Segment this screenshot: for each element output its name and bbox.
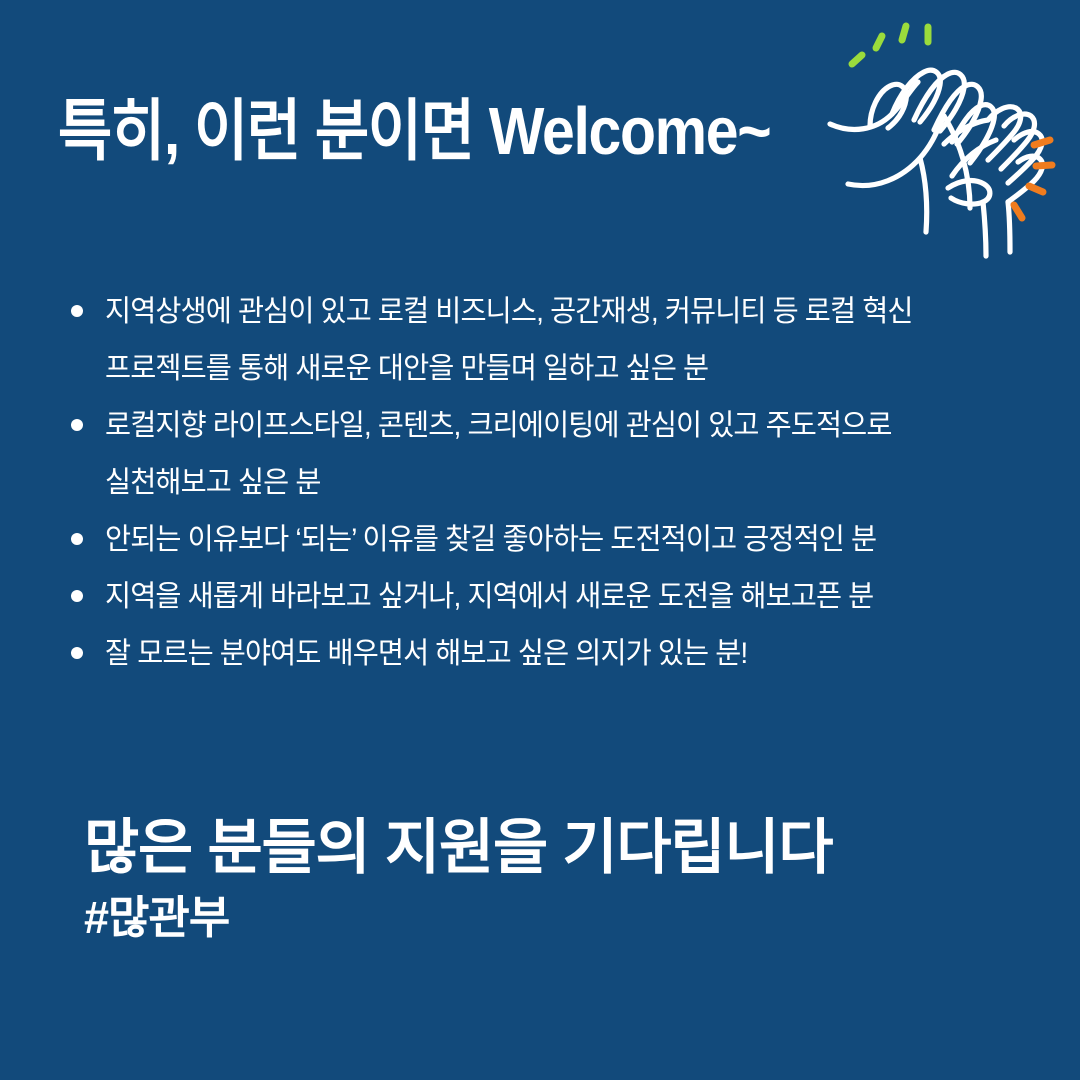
clapping-hands-illustration [818,18,1074,274]
list-item-label: 지역을 새롭게 바라보고 싶거나, 지역에서 새로운 도전을 해보고픈 분 [105,568,1003,625]
list-item-label: 잘 모르는 분야여도 배우면서 해보고 싶은 의지가 있는 분! [105,625,1003,682]
list-item-label: 안되는 이유보다 ‘되는’ 이유를 찾길 좋아하는 도전적이고 긍정적인 분 [105,511,1003,568]
list-item-label: 로컬지향 라이프스타일, 콘텐츠, 크리에이팅에 관심이 있고 주도적으로 실천… [105,397,1003,511]
footer-hashtag: #많관부 [84,890,832,946]
bullet-dot-icon [71,419,83,431]
requirements-list: 지역상생에 관심이 있고 로컬 비즈니스, 공간재생, 커뮤니티 등 로컬 혁신… [60,283,1040,682]
list-item: 지역상생에 관심이 있고 로컬 비즈니스, 공간재생, 커뮤니티 등 로컬 혁신… [60,283,1040,397]
green-spark-lines [852,26,928,64]
recruitment-card: 특히, 이런 분이면 Welcome~ [0,0,1080,1080]
bullet-dot-icon [71,590,83,602]
list-item-label: 지역상생에 관심이 있고 로컬 비즈니스, 공간재생, 커뮤니티 등 로컬 혁신… [105,283,1003,397]
list-item: 잘 모르는 분야여도 배우면서 해보고 싶은 의지가 있는 분! [60,625,1040,682]
list-item: 지역을 새롭게 바라보고 싶거나, 지역에서 새로운 도전을 해보고픈 분 [60,568,1040,625]
page-title: 특히, 이런 분이면 Welcome~ [58,93,770,171]
bullet-dot-icon [71,533,83,545]
footer-headline: 많은 분들의 지원을 기다립니다 [84,810,832,886]
footer-block: 많은 분들의 지원을 기다립니다 #많관부 [84,810,832,946]
list-item: 안되는 이유보다 ‘되는’ 이유를 찾길 좋아하는 도전적이고 긍정적인 분 [60,511,1040,568]
bullet-dot-icon [71,305,83,317]
bullet-dot-icon [71,647,83,659]
list-item: 로컬지향 라이프스타일, 콘텐츠, 크리에이팅에 관심이 있고 주도적으로 실천… [60,397,1040,511]
